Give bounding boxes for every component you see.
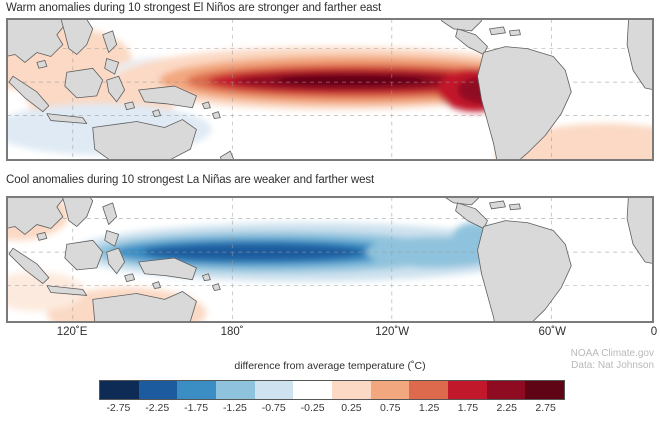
colorbar-swatch-9	[448, 381, 487, 399]
colorbar-swatch-7	[371, 381, 410, 399]
colorbar-swatch-4	[255, 381, 294, 399]
colorbar-tick-0: -2.75	[106, 402, 130, 414]
colorbar-tick-8: 1.25	[419, 402, 439, 414]
colorbar-tick-3: -1.25	[223, 402, 247, 414]
colorbar-swatch-8	[409, 381, 448, 399]
colorbar-title: difference from average temperature (˚C)	[0, 360, 660, 372]
colorbar-swatch-3	[216, 381, 255, 399]
colorbar-swatch-2	[177, 381, 216, 399]
colorbar-tick-1: -2.25	[145, 402, 169, 414]
colorbar-swatch-10	[487, 381, 526, 399]
colorbar-swatch-5	[293, 381, 332, 399]
colorbar-swatch-6	[332, 381, 371, 399]
x-tick-60w: 60˚W	[539, 326, 566, 338]
map-panel-lanina	[6, 196, 654, 323]
panel-title-lanina: Cool anomalies during 10 strongest La Ni…	[6, 174, 374, 186]
colorbar-title-text: difference from average temperature (	[234, 360, 411, 372]
colorbar-swatch-11	[525, 381, 564, 399]
colorbar-tick-4: -0.75	[262, 402, 286, 414]
elnino-map-svg	[7, 19, 653, 160]
x-tick-120e: 120˚E	[57, 326, 88, 338]
colorbar-tick-9: 1.75	[458, 402, 478, 414]
x-tick-180: 180˚	[221, 326, 244, 338]
colorbar-tick-11: 2.75	[535, 402, 555, 414]
colorbar-swatch-0	[100, 381, 139, 399]
colorbar-tick-2: -1.75	[184, 402, 208, 414]
climate-anomaly-figure: Warm anomalies during 10 strongest El Ni…	[0, 0, 660, 435]
x-axis-longitude-labels: 120˚E 180˚ 120˚W 60˚W 0	[6, 326, 654, 344]
colorbar-tick-7: 0.75	[380, 402, 400, 414]
panel-title-elnino: Warm anomalies during 10 strongest El Ni…	[6, 2, 381, 14]
lanina-map-svg	[7, 197, 653, 322]
colorbar-tick-10: 2.25	[497, 402, 517, 414]
colorbar-swatch-1	[139, 381, 178, 399]
attribution-source: NOAA Climate.gov	[571, 348, 654, 360]
colorbar-tick-5: -0.25	[301, 402, 325, 414]
colorbar-unit: ˚C)	[411, 360, 426, 372]
x-tick-0: 0	[651, 326, 657, 338]
colorbar-tick-labels: -2.75-2.25-1.75-1.25-0.75-0.250.250.751.…	[99, 402, 565, 418]
x-tick-120w: 120˚W	[375, 326, 409, 338]
map-panel-elnino	[6, 18, 654, 161]
colorbar-tick-6: 0.25	[341, 402, 361, 414]
colorbar	[99, 380, 565, 400]
